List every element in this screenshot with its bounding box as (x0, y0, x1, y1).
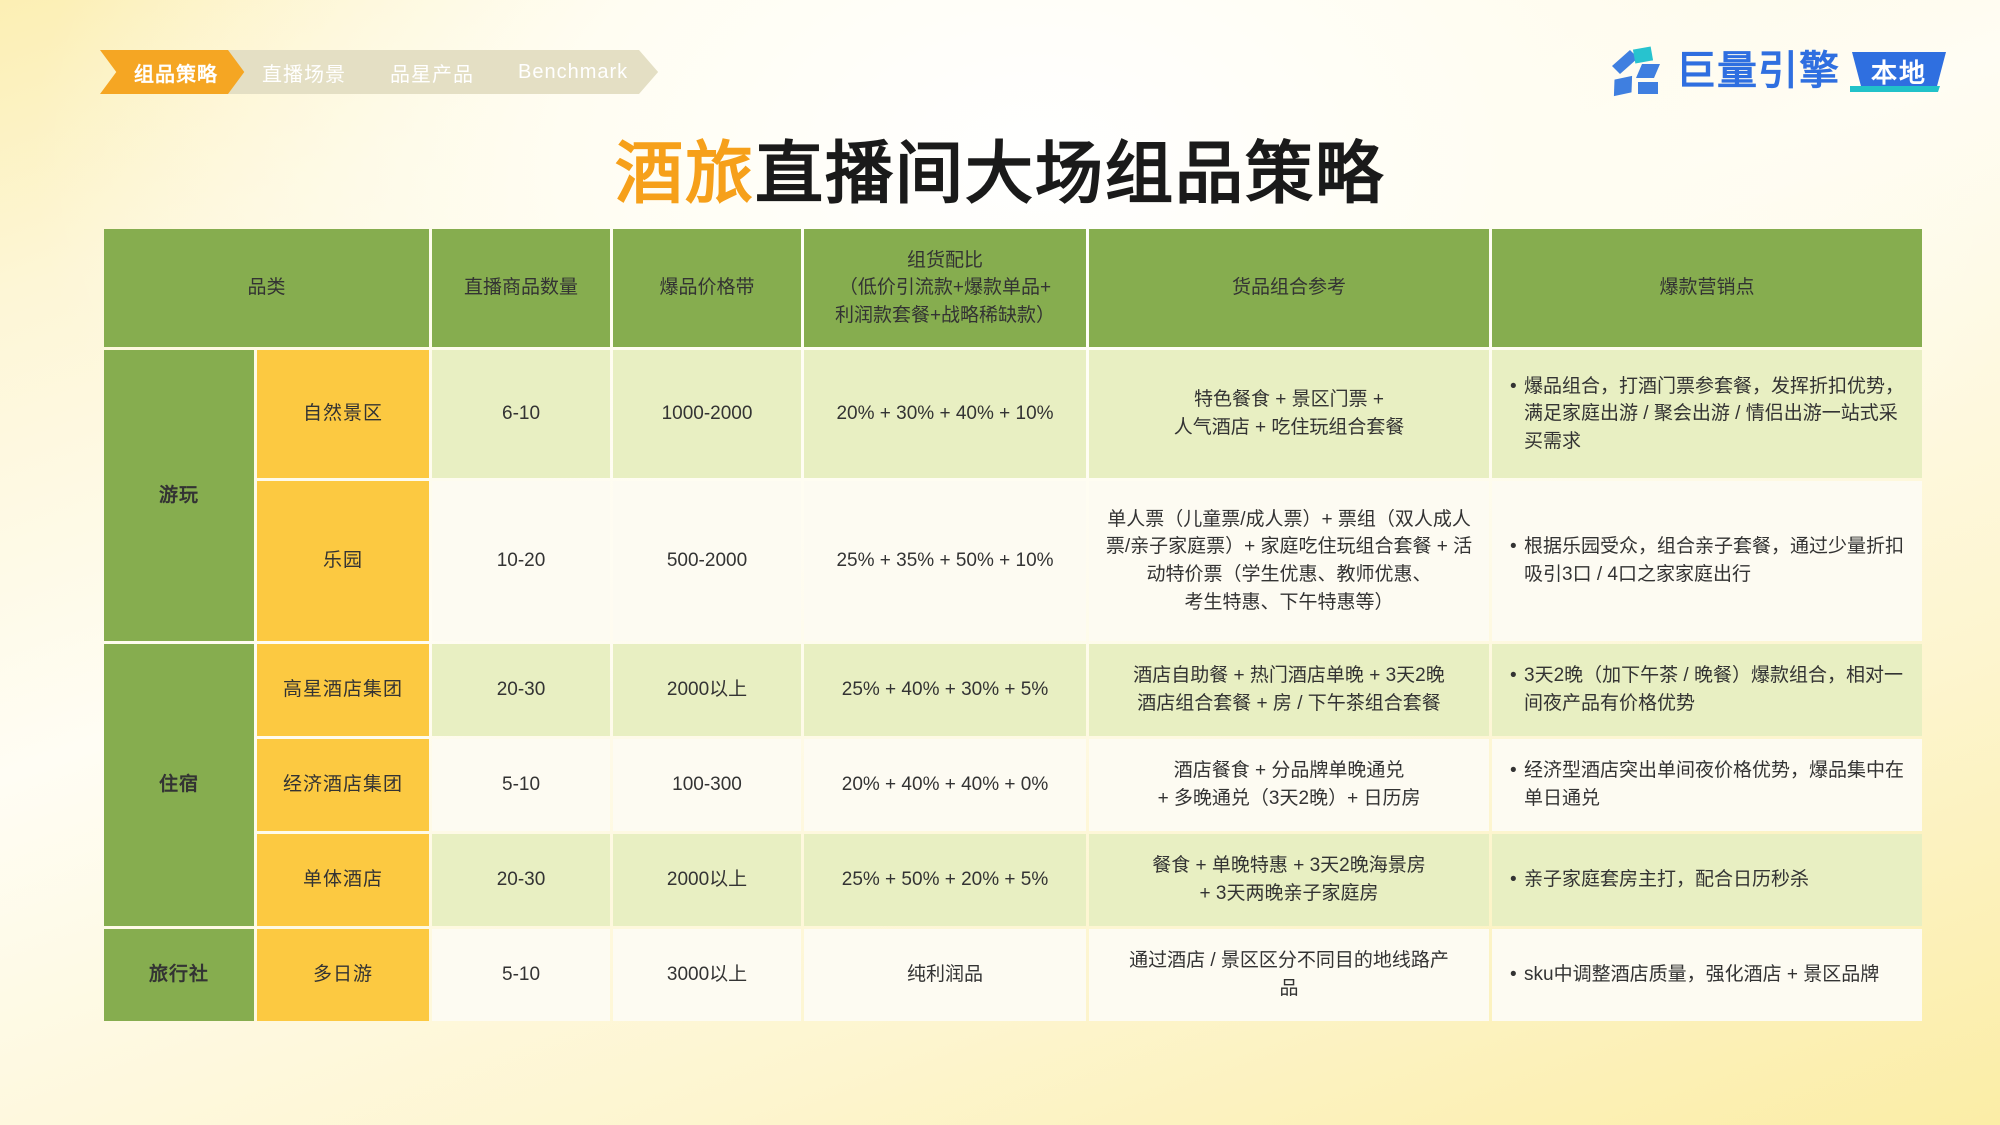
col-header-marketing: 爆款营销点 (1492, 229, 1922, 347)
cell-combo-1-2: 餐食 + 单晚特惠 + 3天2晚海景房 + 3天两晚亲子家庭房 (1089, 834, 1489, 926)
table-row: 旅行社 多日游 5-10 3000以上 纯利润品 通过酒店 / 景区区分不同目的… (104, 929, 1922, 1021)
table-row: 单体酒店 20-30 2000以上 25% + 50% + 20% + 5% 餐… (104, 834, 1922, 926)
col-header-combo: 货品组合参考 (1089, 229, 1489, 347)
page-title-rest: 直播间大场组品策略 (755, 136, 1385, 212)
cell-count-0-0: 6-10 (432, 350, 610, 478)
table-row: 住宿 高星酒店集团 20-30 2000以上 25% + 40% + 30% +… (104, 644, 1922, 736)
combo-line-1: 品 (1101, 975, 1477, 1003)
cell-count-1-0: 20-30 (432, 644, 610, 736)
cell-count-0-1: 10-20 (432, 481, 610, 641)
note-text: 根据乐园受众，组合亲子套餐，通过少量折扣吸引3口 / 4口之家家庭出行 (1524, 533, 1906, 588)
cell-note-0-0: •爆品组合，打酒门票参套餐，发挥折扣优势，满足家庭出游 / 聚会出游 / 情侣出… (1492, 350, 1922, 478)
col-header-ratio: 组货配比 （低价引流款+爆款单品+ 利润款套餐+战略稀缺款） (804, 229, 1086, 347)
col-header-price-band: 爆品价格带 (613, 229, 801, 347)
cell-combo-2-0: 通过酒店 / 景区区分不同目的地线路产 品 (1089, 929, 1489, 1021)
cell-price-2-0: 3000以上 (613, 929, 801, 1021)
cell-combo-0-1: 单人票（儿童票/成人票）+ 票组（双人成人票/亲子家庭票）+ 家庭吃住玩组合套餐… (1089, 481, 1489, 641)
breadcrumb-item-3[interactable]: Benchmark (484, 50, 658, 94)
combo-line-1: 酒店组合套餐 + 房 / 下午茶组合套餐 (1101, 690, 1477, 718)
sub-label-0-1: 乐园 (257, 481, 429, 641)
cell-ratio-1-0: 25% + 40% + 30% + 5% (804, 644, 1086, 736)
cell-count-1-1: 5-10 (432, 739, 610, 831)
bullet-icon: • (1510, 662, 1524, 690)
cell-ratio-0-0: 20% + 30% + 40% + 10% (804, 350, 1086, 478)
table-header-row: 品类 直播商品数量 爆品价格带 组货配比 （低价引流款+爆款单品+ 利润款套餐+… (104, 229, 1922, 347)
table-row: 乐园 10-20 500-2000 25% + 35% + 50% + 10% … (104, 481, 1922, 641)
page-title-highlight: 酒旅 (615, 136, 755, 212)
strategy-table: 品类 直播商品数量 爆品价格带 组货配比 （低价引流款+爆款单品+ 利润款套餐+… (101, 226, 1925, 1024)
breadcrumb-label-0: 组品策略 (134, 58, 218, 87)
col-header-ratio-line-2: 利润款套餐+战略稀缺款） (816, 302, 1074, 330)
cell-combo-0-0: 特色餐食 + 景区门票 + 人气酒店 + 吃住玩组合套餐 (1089, 350, 1489, 478)
bullet-icon: • (1510, 757, 1524, 785)
col-header-product-count: 直播商品数量 (432, 229, 610, 347)
cell-note-1-0: •3天2晚（加下午茶 / 晚餐）爆款组合，相对一间夜产品有价格优势 (1492, 644, 1922, 736)
bullet-icon: • (1510, 373, 1524, 401)
cell-note-1-2: •亲子家庭套房主打，配合日历秒杀 (1492, 834, 1922, 926)
page-title: 酒旅直播间大场组品策略 (0, 118, 2000, 217)
top-bar: 组品策略 直播场景 品星产品 Benchmark (0, 0, 2000, 120)
combo-line-0: 特色餐食 + 景区门票 + (1101, 386, 1477, 414)
combo-line-1: 考生特惠、下午特惠等） (1101, 589, 1477, 617)
col-header-ratio-line-0: 组货配比 (816, 247, 1074, 275)
breadcrumb-item-2[interactable]: 品星产品 (356, 50, 504, 94)
cell-ratio-1-2: 25% + 50% + 20% + 5% (804, 834, 1086, 926)
combo-line-0: 酒店自助餐 + 热门酒店单晚 + 3天2晚 (1101, 662, 1477, 690)
combo-line-0: 餐食 + 单晚特惠 + 3天2晚海景房 (1101, 852, 1477, 880)
cell-ratio-1-1: 20% + 40% + 40% + 0% (804, 739, 1086, 831)
note-text: sku中调整酒店质量，强化酒店 + 景区品牌 (1524, 961, 1906, 989)
cell-combo-1-0: 酒店自助餐 + 热门酒店单晚 + 3天2晚 酒店组合套餐 + 房 / 下午茶组合… (1089, 644, 1489, 736)
sub-label-0-0: 自然景区 (257, 350, 429, 478)
note-text: 3天2晚（加下午茶 / 晚餐）爆款组合，相对一间夜产品有价格优势 (1524, 662, 1906, 717)
cell-ratio-2-0: 纯利润品 (804, 929, 1086, 1021)
brand-logo: 巨量引擎 本地 (1608, 44, 1948, 98)
cell-combo-1-1: 酒店餐食 + 分品牌单晚通兑 + 多晚通兑（3天2晚）+ 日历房 (1089, 739, 1489, 831)
cell-note-2-0: •sku中调整酒店质量，强化酒店 + 景区品牌 (1492, 929, 1922, 1021)
breadcrumb: 组品策略 直播场景 品星产品 Benchmark (100, 50, 638, 94)
note-text: 经济型酒店突出单间夜价格优势，爆品集中在单日通兑 (1524, 757, 1906, 812)
table-row: 经济酒店集团 5-10 100-300 20% + 40% + 40% + 0%… (104, 739, 1922, 831)
cell-note-0-1: •根据乐园受众，组合亲子套餐，通过少量折扣吸引3口 / 4口之家家庭出行 (1492, 481, 1922, 641)
cell-count-1-2: 20-30 (432, 834, 610, 926)
brand-badge: 本地 (1850, 50, 1948, 92)
cell-count-2-0: 5-10 (432, 929, 610, 1021)
brand-name: 巨量引擎 (1676, 51, 1840, 91)
combo-line-1: + 多晚通兑（3天2晚）+ 日历房 (1101, 785, 1477, 813)
sub-label-1-2: 单体酒店 (257, 834, 429, 926)
breadcrumb-item-1[interactable]: 直播场景 (228, 50, 376, 94)
combo-line-1: + 3天两晚亲子家庭房 (1101, 880, 1477, 908)
cell-ratio-0-1: 25% + 35% + 50% + 10% (804, 481, 1086, 641)
group-label-0: 游玩 (104, 350, 254, 641)
combo-line-1: 人气酒店 + 吃住玩组合套餐 (1101, 414, 1477, 442)
group-label-1: 住宿 (104, 644, 254, 926)
group-label-2: 旅行社 (104, 929, 254, 1021)
cell-price-1-0: 2000以上 (613, 644, 801, 736)
sub-label-1-0: 高星酒店集团 (257, 644, 429, 736)
breadcrumb-item-0[interactable]: 组品策略 (100, 50, 248, 94)
cell-price-1-2: 2000以上 (613, 834, 801, 926)
breadcrumb-label-3: Benchmark (518, 61, 628, 84)
combo-line-0: 单人票（儿童票/成人票）+ 票组（双人成人票/亲子家庭票）+ 家庭吃住玩组合套餐… (1101, 506, 1477, 589)
strategy-table-wrap: 品类 直播商品数量 爆品价格带 组货配比 （低价引流款+爆款单品+ 利润款套餐+… (101, 226, 1901, 1024)
breadcrumb-label-1: 直播场景 (262, 58, 346, 87)
combo-line-0: 酒店餐食 + 分品牌单晚通兑 (1101, 757, 1477, 785)
cell-price-0-1: 500-2000 (613, 481, 801, 641)
brand-badge-label: 本地 (1871, 53, 1927, 90)
bullet-icon: • (1510, 533, 1524, 561)
cell-note-1-1: •经济型酒店突出单间夜价格优势，爆品集中在单日通兑 (1492, 739, 1922, 831)
note-text: 爆品组合，打酒门票参套餐，发挥折扣优势，满足家庭出游 / 聚会出游 / 情侣出游… (1524, 373, 1906, 456)
cell-price-1-1: 100-300 (613, 739, 801, 831)
sub-label-2-0: 多日游 (257, 929, 429, 1021)
breadcrumb-label-2: 品星产品 (390, 58, 474, 87)
col-header-category: 品类 (104, 229, 429, 347)
bullet-icon: • (1510, 866, 1524, 894)
col-header-ratio-line-1: （低价引流款+爆款单品+ (816, 274, 1074, 302)
combo-line-0: 通过酒店 / 景区区分不同目的地线路产 (1101, 947, 1477, 975)
sub-label-1-1: 经济酒店集团 (257, 739, 429, 831)
juliang-arrows-icon (1608, 44, 1666, 98)
bullet-icon: • (1510, 961, 1524, 989)
table-row: 游玩 自然景区 6-10 1000-2000 20% + 30% + 40% +… (104, 350, 1922, 478)
cell-price-0-0: 1000-2000 (613, 350, 801, 478)
note-text: 亲子家庭套房主打，配合日历秒杀 (1524, 866, 1906, 894)
